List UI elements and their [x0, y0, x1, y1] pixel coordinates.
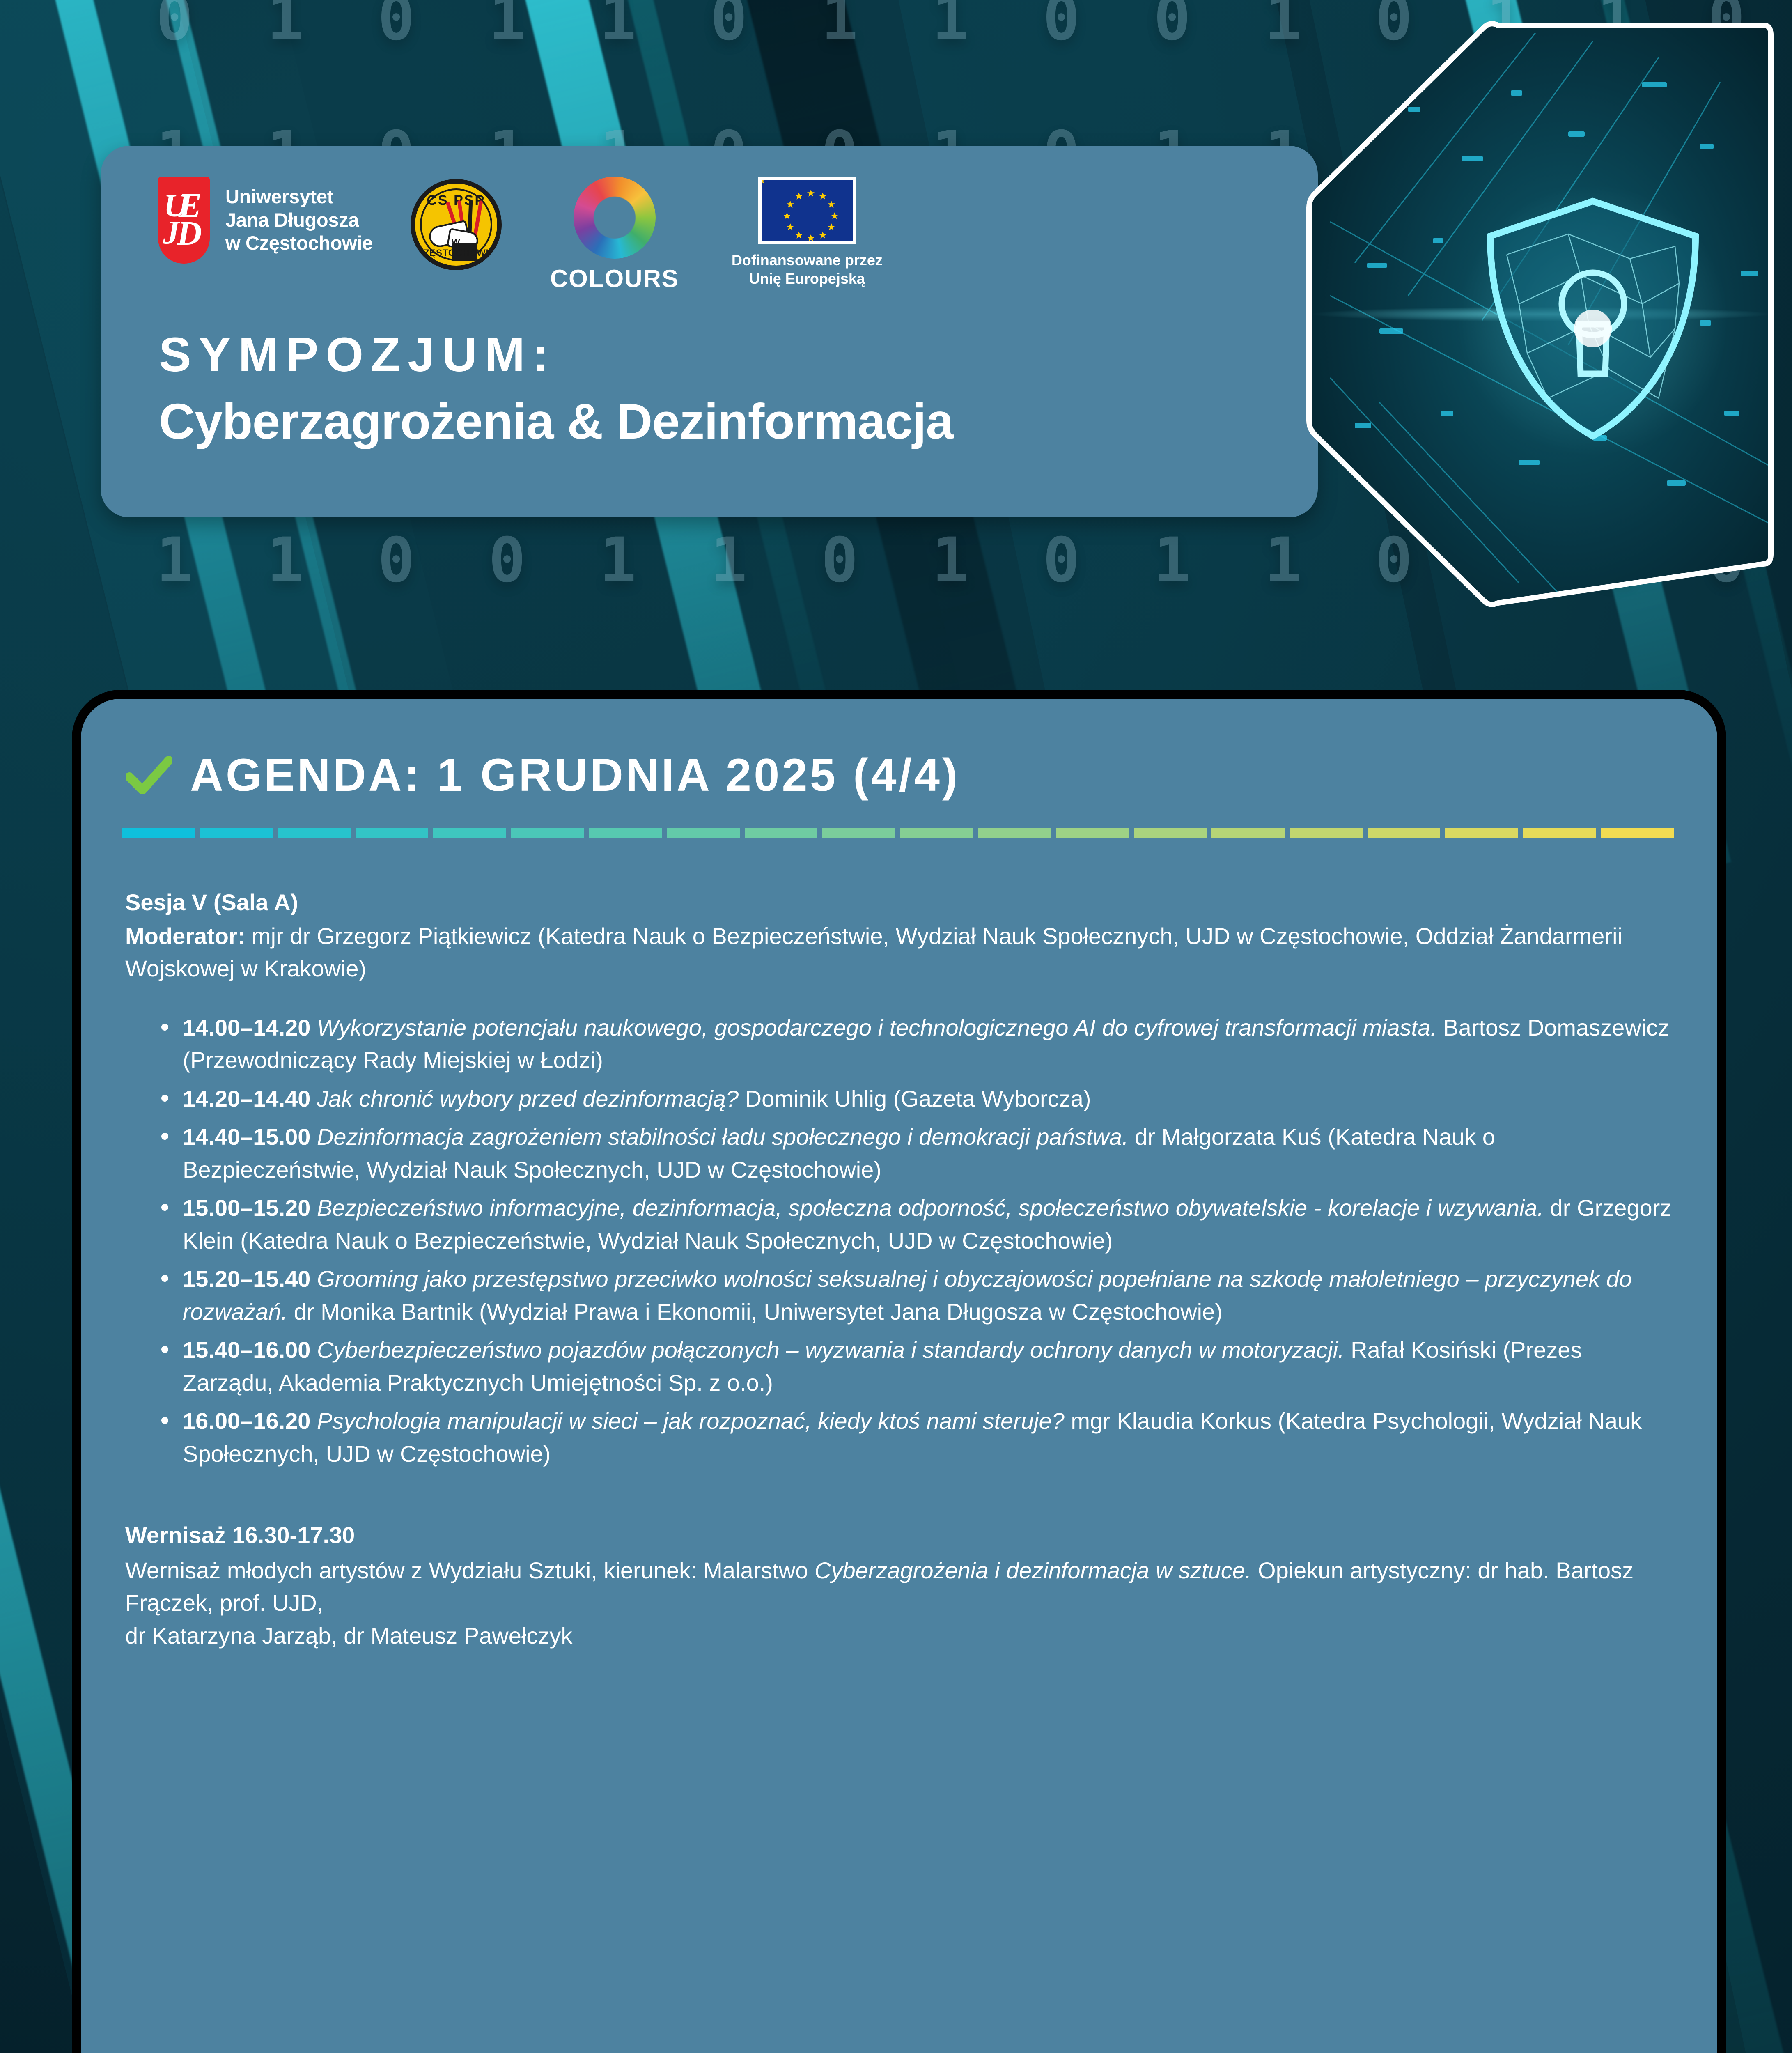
talk-item: 14.20–14.40 Jak chronić wybory przed dez… [161, 1082, 1676, 1115]
moderator-text: mjr dr Grzegorz Piątkiewicz (Katedra Nau… [125, 923, 1622, 982]
colours-logo: COLOURS [550, 177, 679, 293]
divider-segment [745, 828, 818, 838]
divider-segment [1290, 828, 1363, 838]
divider-segment [900, 828, 973, 838]
shield-lock-hero-graphic [1306, 8, 1778, 620]
agenda-card: AGENDA: 1 GRUDNIA 2025 (4/4) Sesja V (Sa… [72, 690, 1726, 2053]
divider-segment [589, 828, 662, 838]
divider-segment [978, 828, 1051, 838]
divider-segment [356, 828, 429, 838]
divider-segment [667, 828, 740, 838]
wernisaz-line2: dr Katarzyna Jarząb, dr Mateusz Pawełczy… [125, 1623, 572, 1649]
divider-segment [200, 828, 273, 838]
ujd-shield-icon: U E J D [158, 177, 210, 264]
divider-segment [1601, 828, 1674, 838]
header-subtitle: Cyberzagrożenia & Dezinformacja [159, 396, 953, 446]
talk-time: 16.00–16.20 [183, 1408, 310, 1434]
talk-item: 16.00–16.20 Psychologia manipulacji w si… [161, 1405, 1676, 1470]
wernisaz-heading: Wernisaż 16.30-17.30 [125, 1519, 1644, 1551]
talk-speaker: dr Monika Bartnik (Wydział Prawa i Ekono… [287, 1299, 1223, 1325]
divider-segment [1056, 828, 1129, 838]
divider-segment [278, 828, 351, 838]
talk-time: 14.00–14.20 [183, 1015, 310, 1040]
agenda-header: AGENDA: 1 GRUDNIA 2025 (4/4) [126, 752, 1717, 798]
check-icon [126, 756, 172, 794]
talk-item: 15.20–15.40 Grooming jako przestępstwo p… [161, 1263, 1676, 1328]
talk-time: 14.20–14.40 [183, 1086, 310, 1111]
talk-time: 15.00–15.20 [183, 1195, 310, 1221]
talk-title: Cyberbezpieczeństwo pojazdów połączonych… [310, 1337, 1344, 1363]
talk-item: 14.40–15.00 Dezinformacja zagrożeniem st… [161, 1121, 1676, 1186]
moderator-label: Moderator: [125, 923, 245, 949]
talk-time: 15.20–15.40 [183, 1266, 310, 1292]
talk-time: 15.40–16.00 [183, 1337, 310, 1363]
wernisaz-emphasis: Cyberzagrożenia i dezinformacja w sztuce… [815, 1557, 1251, 1583]
ujd-logo-name: Uniwersytet Jana Długosza w Częstochowie [225, 185, 373, 255]
header-card: U E J D Uniwersytet Jana Długosza w Częs… [101, 146, 1318, 517]
talk-item: 14.00–14.20 Wykorzystanie potencjału nau… [161, 1011, 1676, 1077]
cspsp-bottom-text: W CZĘSTOCHOWIE [415, 237, 497, 258]
talk-title: Jak chronić wybory przed dezinformacją? [310, 1086, 739, 1111]
colours-ring-icon [574, 177, 656, 259]
divider-segment [1211, 828, 1285, 838]
talk-item: 15.40–16.00 Cyberbezpieczeństwo pojazdów… [161, 1334, 1676, 1399]
divider-segment [1523, 828, 1596, 838]
talk-title: Bezpieczeństwo informacyjne, dezinformac… [310, 1195, 1544, 1221]
agenda-title: AGENDA: 1 GRUDNIA 2025 (4/4) [190, 752, 960, 798]
session-name: Sesja V (Sala A) [125, 887, 1669, 918]
talk-time: 14.40–15.00 [183, 1124, 310, 1150]
cspsp-seal-icon: CS PSP W CZĘSTOCHOWIE [411, 179, 502, 270]
wernisaz-line1a: Wernisaż młodych artystów z Wydziału Szt… [125, 1557, 815, 1583]
talk-title: Dezinformacja zagrożeniem stabilności ła… [310, 1124, 1128, 1150]
divider-segment [1445, 828, 1518, 838]
talk-item: 15.00–15.20 Bezpieczeństwo informacyjne,… [161, 1192, 1676, 1257]
wernisaz-body: Wernisaż młodych artystów z Wydziału Szt… [125, 1554, 1644, 1652]
divider-segment [1368, 828, 1441, 838]
header-title: SYMPOZJUM: [159, 331, 556, 379]
colours-label: COLOURS [550, 264, 679, 293]
divider-segment [433, 828, 506, 838]
eu-funding-text: Dofinansowane przez Unię Europejską [732, 251, 883, 288]
talk-title: Psychologia manipulacji w sieci – jak ro… [310, 1408, 1064, 1434]
gradient-divider [122, 828, 1674, 838]
talk-title: Wykorzystanie potencjału naukowego, gosp… [310, 1015, 1436, 1040]
divider-segment [1134, 828, 1207, 838]
session-block: Sesja V (Sala A) Moderator: mjr dr Grzeg… [125, 887, 1669, 985]
divider-segment [511, 828, 584, 838]
logo-row: U E J D Uniwersytet Jana Długosza w Częs… [158, 177, 883, 293]
divider-segment [122, 828, 195, 838]
ujd-logo: U E J D Uniwersytet Jana Długosza w Częs… [158, 177, 373, 264]
session-moderator: Moderator: mjr dr Grzegorz Piątkiewicz (… [125, 920, 1669, 985]
talk-list: 14.00–14.20 Wykorzystanie potencjału nau… [161, 1011, 1676, 1470]
talk-speaker: Dominik Uhlig (Gazeta Wyborcza) [739, 1086, 1091, 1111]
cspsp-top-text: CS PSP [415, 193, 497, 209]
wernisaz-block: Wernisaż 16.30-17.30 Wernisaż młodych ar… [125, 1519, 1644, 1652]
eu-funding-logo: Dofinansowane przez Unię Europejską [732, 177, 883, 288]
divider-segment [822, 828, 895, 838]
eu-flag-icon [758, 177, 856, 244]
